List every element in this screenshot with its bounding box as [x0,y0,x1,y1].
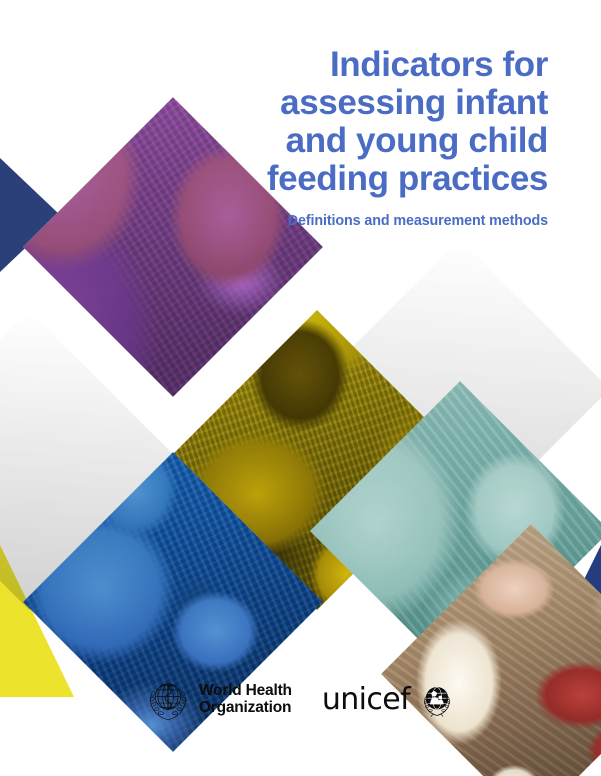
page-subtitle: Definitions and measurement methods [212,213,548,229]
who-name-line-1: World Health [199,682,292,699]
unicef-emblem-icon [419,682,455,718]
who-emblem-icon [146,678,190,722]
unicef-wordmark: unicef [322,685,410,715]
who-logo-text: World HealthOrganization [199,683,292,716]
unicef-logo: unicef [322,682,455,718]
who-name-line-2: Organization [199,699,291,716]
report-cover: Indicators forassessing infantand young … [0,0,601,776]
title-line-1: Indicators for [330,45,548,84]
title-line-4: feeding practices [267,159,548,198]
who-logo: World HealthOrganization [146,678,292,722]
title-line-2: assessing infant [280,83,548,122]
page-title: Indicators forassessing infantand young … [212,46,548,199]
title-block: Indicators forassessing infantand young … [212,46,548,229]
title-line-3: and young child [286,121,548,160]
logo-row: World HealthOrganization unicef [0,678,601,722]
